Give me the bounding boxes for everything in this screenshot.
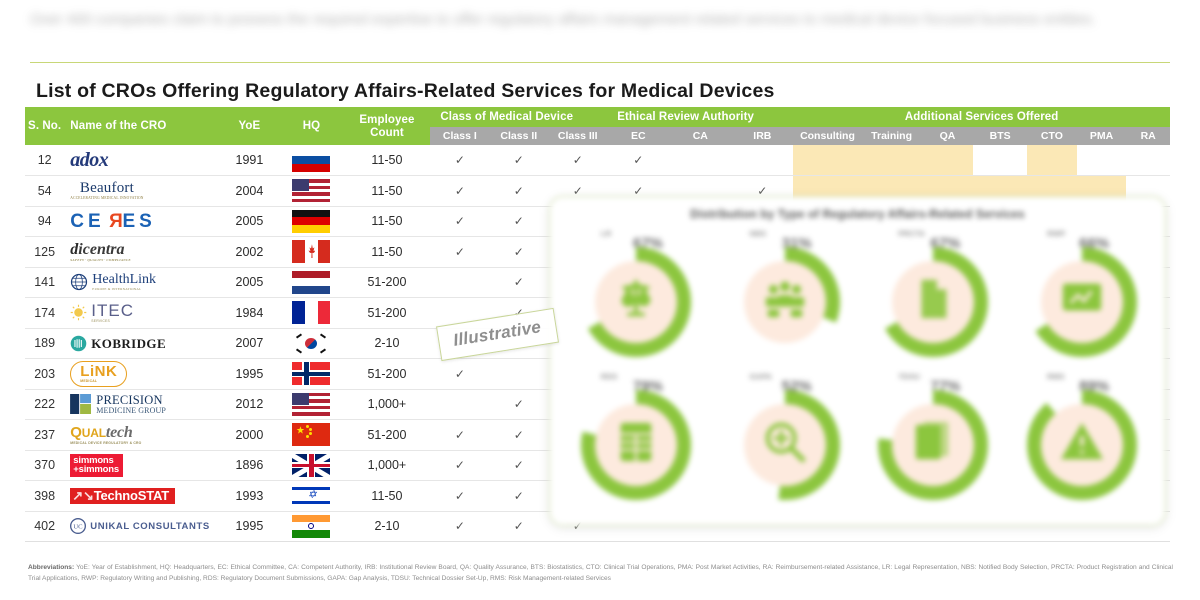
cell-hq <box>279 176 343 207</box>
cell-employee-count: 51-200 <box>344 359 431 390</box>
check-icon: ✓ <box>455 184 465 198</box>
check-icon: ✓ <box>514 519 524 533</box>
warning-icon <box>1059 419 1105 470</box>
cell-employee-count: 11-50 <box>344 206 431 237</box>
cell-yoe: 2005 <box>219 206 279 237</box>
col-consulting: Consulting <box>793 127 861 145</box>
cell-hq <box>279 237 343 268</box>
col-pma: PMA <box>1077 127 1127 145</box>
cell-pma <box>1077 145 1127 176</box>
col-irb: IRB <box>731 127 793 145</box>
donut-hole <box>892 404 974 486</box>
col-bts: BTS <box>973 127 1027 145</box>
check-icon: ✓ <box>573 153 583 167</box>
check-icon: ✓ <box>514 275 524 289</box>
check-icon: ✓ <box>455 245 465 259</box>
donut-label: RDS <box>601 372 618 381</box>
cell-yoe: 1991 <box>219 145 279 176</box>
col-ec: EC <box>607 127 669 145</box>
logo-text: KOBRIDGE <box>91 337 166 350</box>
logo-text: QUALtechMedical Device Regulatory & CRO <box>70 425 141 445</box>
col-hq: HQ <box>279 107 343 145</box>
logo-text: HealthLinkEurope & International <box>92 273 156 291</box>
cell-sno: 94 <box>25 206 64 237</box>
cell-sno: 370 <box>25 450 64 481</box>
cell-class-1: ✓ <box>430 206 489 237</box>
check-icon: ✓ <box>514 245 524 259</box>
check-icon: ✓ <box>455 367 465 381</box>
check-icon: ✓ <box>514 489 524 503</box>
cell-ca <box>669 145 731 176</box>
cell-sno: 398 <box>25 481 64 512</box>
cell-cro-name: BeaufortAccelerating Medical Innovation <box>64 176 219 207</box>
flag-icon <box>292 423 330 446</box>
cro-logo: KOBRIDGE <box>70 329 219 357</box>
cell-cro-name: dicentraSafety · Quality · Compliance <box>64 237 219 268</box>
scales-icon <box>613 276 659 327</box>
cell-class-2: ✓ <box>489 206 548 237</box>
cell-class-1 <box>430 389 489 420</box>
logo-mark <box>70 273 88 291</box>
donut-label: TDSU <box>898 372 920 381</box>
table-head: S. No. Name of the CRO YoE HQ Employee C… <box>25 107 1170 145</box>
cell-cro-name: simmons+simmons <box>64 450 219 481</box>
flag-icon <box>292 210 330 233</box>
cell-employee-count: 1,000+ <box>344 389 431 420</box>
cell-cro-name: ITECServices <box>64 298 219 329</box>
flag-icon <box>292 301 330 324</box>
cro-logo: ↗↘TechnoSTAT <box>70 482 219 510</box>
spreadsheet-icon <box>613 419 659 470</box>
cell-employee-count: 2-10 <box>344 511 431 542</box>
col-cto: CTO <box>1027 127 1077 145</box>
check-icon: ✓ <box>514 153 524 167</box>
donut-ring <box>1027 390 1137 500</box>
cell-yoe: 1984 <box>219 298 279 329</box>
group-additional-services-offered: Additional Services Offered <box>793 107 1170 127</box>
donut-label: NBS <box>750 229 767 238</box>
donut-ring <box>730 247 840 357</box>
check-icon: ✓ <box>514 184 524 198</box>
donut-ring <box>878 390 988 500</box>
logo-text: UNIKAL CONSULTANTS <box>90 522 210 532</box>
donut-prcta: PRCTA67% <box>864 225 999 365</box>
logo-mark: UC <box>70 518 86 534</box>
flag-icon <box>292 393 330 416</box>
check-icon: ✓ <box>633 153 643 167</box>
logo-text: PRECISIONMEDICINE GROUP <box>96 394 166 415</box>
check-icon: ✓ <box>455 214 465 228</box>
donut-hole <box>1041 404 1123 486</box>
table-group-header-row: S. No. Name of the CRO YoE HQ Employee C… <box>25 107 1170 127</box>
cro-logo: dicentraSafety · Quality · Compliance <box>70 238 219 266</box>
donut-hole <box>1041 261 1123 343</box>
cell-class-2: ✓ <box>489 450 548 481</box>
cell-employee-count: 11-50 <box>344 481 431 512</box>
col-class-2: Class II <box>489 127 548 145</box>
flag-icon: ✡ <box>292 484 330 507</box>
cell-class-1: ✓ <box>430 450 489 481</box>
cro-logo: BeaufortAccelerating Medical Innovation <box>70 177 219 205</box>
cell-sno: 237 <box>25 420 64 451</box>
cell-ra <box>1126 145 1170 176</box>
cell-class-2: ✓ <box>489 237 548 268</box>
col-qa: QA <box>922 127 974 145</box>
presentation-icon <box>1059 276 1105 327</box>
cell-yoe: 1993 <box>219 481 279 512</box>
flag-icon <box>292 149 330 172</box>
donut-label: LR <box>601 229 612 238</box>
flag-icon <box>292 454 330 477</box>
logo-text: dicentraSafety · Quality · Compliance <box>70 242 131 262</box>
logo-mark <box>70 304 87 321</box>
cro-logo: QUALtechMedical Device Regulatory & CRO <box>70 421 219 449</box>
cell-class-2: ✓ <box>489 420 548 451</box>
table-row[interactable]: 12adox199111-50✓✓✓✓ <box>25 145 1170 176</box>
col-employee-count: Employee Count <box>344 107 431 145</box>
cell-class-3: ✓ <box>548 145 607 176</box>
cell-yoe: 2000 <box>219 420 279 451</box>
cro-logo: adox <box>70 146 219 174</box>
donut-tdsu: TDSU77% <box>864 368 999 508</box>
logo-text: CERES <box>70 212 156 231</box>
donut-hole <box>744 261 826 343</box>
cell-hq <box>279 298 343 329</box>
cell-class-1: ✓ <box>430 420 489 451</box>
cell-employee-count: 2-10 <box>344 328 431 359</box>
cell-cro-name: QUALtechMedical Device Regulatory & CRO <box>64 420 219 451</box>
chart-title: Distribution by Type of Regulatory Affai… <box>560 209 1155 221</box>
cell-yoe: 1995 <box>219 511 279 542</box>
col-sno: S. No. <box>25 107 64 145</box>
cell-class-2: ✓ <box>489 511 548 542</box>
cell-hq <box>279 145 343 176</box>
cell-employee-count: 51-200 <box>344 298 431 329</box>
cell-class-2 <box>489 359 548 390</box>
check-icon: ✓ <box>514 428 524 442</box>
donut-rwp: RWP66% <box>1013 225 1148 365</box>
abbreviations-label: Abbreviations: <box>28 564 74 571</box>
cell-hq <box>279 267 343 298</box>
cell-class-2: ✓ <box>489 389 548 420</box>
col-class-1: Class I <box>430 127 489 145</box>
cell-hq: ✡ <box>279 481 343 512</box>
donut-ring <box>878 247 988 357</box>
cell-hq <box>279 359 343 390</box>
cell-sno: 141 <box>25 267 64 298</box>
col-training: Training <box>862 127 922 145</box>
logo-text: LiNKMEDICAL <box>70 361 127 387</box>
cro-logo: ITECServices <box>70 299 219 327</box>
donut-hole <box>892 261 974 343</box>
donut-hole <box>744 404 826 486</box>
flag-icon <box>292 515 330 538</box>
flag-icon <box>292 271 330 294</box>
cell-ec: ✓ <box>607 145 669 176</box>
check-icon: ✓ <box>514 458 524 472</box>
cell-sno: 54 <box>25 176 64 207</box>
cell-qa <box>922 145 974 176</box>
donut-ring <box>581 390 691 500</box>
check-icon: ✓ <box>455 519 465 533</box>
logo-mark <box>70 394 92 414</box>
cro-logo: simmons+simmons <box>70 451 219 479</box>
cro-logo: HealthLinkEurope & International <box>70 268 219 296</box>
donut-hole <box>595 404 677 486</box>
donut-hole <box>595 261 677 343</box>
logo-text: ITECServices <box>91 302 134 323</box>
cell-yoe: 1995 <box>219 359 279 390</box>
cell-cro-name: PRECISIONMEDICINE GROUP <box>64 389 219 420</box>
col-ca: CA <box>669 127 731 145</box>
header-divider <box>30 62 1170 63</box>
cell-sno: 222 <box>25 389 64 420</box>
cell-class-2: ✓ <box>489 145 548 176</box>
cell-sno: 402 <box>25 511 64 542</box>
cell-sno: 189 <box>25 328 64 359</box>
cell-sno: 174 <box>25 298 64 329</box>
col-ra: RA <box>1126 127 1170 145</box>
cell-yoe: 2004 <box>219 176 279 207</box>
cell-yoe: 2002 <box>219 237 279 268</box>
cell-yoe: 2005 <box>219 267 279 298</box>
abbreviations-text: YoE: Year of Establishment, HQ: Headquar… <box>28 564 1173 582</box>
cell-yoe: 2012 <box>219 389 279 420</box>
check-icon: ✓ <box>455 428 465 442</box>
donut-rds: RDS79% <box>567 368 702 508</box>
cell-training <box>862 145 922 176</box>
donut-grid: LR67%NBS31%PRCTA67%RWP66%RDS79%GAPA52%TD… <box>560 223 1155 509</box>
cro-logo: CERES <box>70 207 219 235</box>
intro-paragraph: Over 400 companies claim to possess the … <box>30 8 1120 32</box>
cell-class-1 <box>430 267 489 298</box>
cell-class-1: ✓ <box>430 359 489 390</box>
cell-employee-count: 51-200 <box>344 267 431 298</box>
check-icon: ✓ <box>514 214 524 228</box>
cell-hq <box>279 450 343 481</box>
check-icon: ✓ <box>455 153 465 167</box>
logo-text: simmons+simmons <box>70 454 123 477</box>
document-icon <box>910 276 956 327</box>
cell-employee-count: 1,000+ <box>344 450 431 481</box>
people-icon <box>762 276 808 327</box>
donut-lr: LR67% <box>567 225 702 365</box>
cell-cro-name: CERES <box>64 206 219 237</box>
flag-icon <box>292 332 330 355</box>
cell-sno: 125 <box>25 237 64 268</box>
donut-nbs: NBS31% <box>716 225 851 365</box>
distribution-chart-panel: Distribution by Type of Regulatory Affai… <box>549 196 1166 526</box>
cro-logo: PRECISIONMEDICINE GROUP <box>70 390 219 418</box>
cell-hq <box>279 420 343 451</box>
donut-label: GAPA <box>750 372 772 381</box>
cell-employee-count: 11-50 <box>344 176 431 207</box>
group-class-of-medical-device: Class of Medical Device <box>430 107 607 127</box>
cell-class-2: ✓ <box>489 267 548 298</box>
cell-irb <box>731 145 793 176</box>
col-yoe: YoE <box>219 107 279 145</box>
cell-yoe: 2007 <box>219 328 279 359</box>
abbreviations-footer: Abbreviations: YoE: Year of Establishmen… <box>28 563 1173 584</box>
cro-logo: LiNKMEDICAL <box>70 360 219 388</box>
check-icon: ✓ <box>514 397 524 411</box>
cell-consulting <box>793 145 861 176</box>
donut-label: RMS <box>1047 372 1065 381</box>
donut-gapa: GAPA52% <box>716 368 851 508</box>
cell-class-1: ✓ <box>430 481 489 512</box>
cell-hq <box>279 206 343 237</box>
cell-class-1: ✓ <box>430 237 489 268</box>
cell-cto <box>1027 145 1077 176</box>
cell-cro-name: ↗↘TechnoSTAT <box>64 481 219 512</box>
cell-employee-count: 51-200 <box>344 420 431 451</box>
page-title: List of CROs Offering Regulatory Affairs… <box>36 80 775 103</box>
cell-employee-count: 11-50 <box>344 145 431 176</box>
logo-text: adox <box>70 150 108 170</box>
cell-sno: 12 <box>25 145 64 176</box>
cell-cro-name: KOBRIDGE <box>64 328 219 359</box>
group-ethical-review-authority: Ethical Review Authority <box>607 107 793 127</box>
flag-icon <box>292 179 330 202</box>
cell-yoe: 1896 <box>219 450 279 481</box>
magnifier-icon <box>762 419 808 470</box>
cell-class-1: ✓ <box>430 176 489 207</box>
donut-rms: RMS89% <box>1013 368 1148 508</box>
logo-text: BeaufortAccelerating Medical Innovation <box>70 181 143 201</box>
donut-ring <box>581 247 691 357</box>
cell-cro-name: adox <box>64 145 219 176</box>
cell-cro-name: LiNKMEDICAL <box>64 359 219 390</box>
cro-logo: UCUNIKAL CONSULTANTS <box>70 512 219 540</box>
donut-ring <box>1027 247 1137 357</box>
check-icon: ✓ <box>455 458 465 472</box>
logo-mark <box>70 335 87 352</box>
col-name: Name of the CRO <box>64 107 219 145</box>
check-icon: ✓ <box>455 489 465 503</box>
cell-hq <box>279 389 343 420</box>
cell-class-1: ✓ <box>430 145 489 176</box>
cell-class-2: ✓ <box>489 481 548 512</box>
cell-sno: 203 <box>25 359 64 390</box>
logo-text: ↗↘TechnoSTAT <box>70 488 175 504</box>
cell-class-2: ✓ <box>489 176 548 207</box>
cell-hq <box>279 328 343 359</box>
col-class-3: Class III <box>548 127 607 145</box>
svg-text:UC: UC <box>74 524 84 531</box>
flag-icon <box>292 240 330 263</box>
cell-cro-name: HealthLinkEurope & International <box>64 267 219 298</box>
flag-icon <box>292 362 330 385</box>
donut-label: RWP <box>1047 229 1065 238</box>
donut-ring <box>730 390 840 500</box>
cell-bts <box>973 145 1027 176</box>
cell-class-1: ✓ <box>430 511 489 542</box>
donut-label: PRCTA <box>898 229 925 238</box>
cell-cro-name: UCUNIKAL CONSULTANTS <box>64 511 219 542</box>
cell-employee-count: 11-50 <box>344 237 431 268</box>
dossier-icon <box>910 419 956 470</box>
cell-hq <box>279 511 343 542</box>
